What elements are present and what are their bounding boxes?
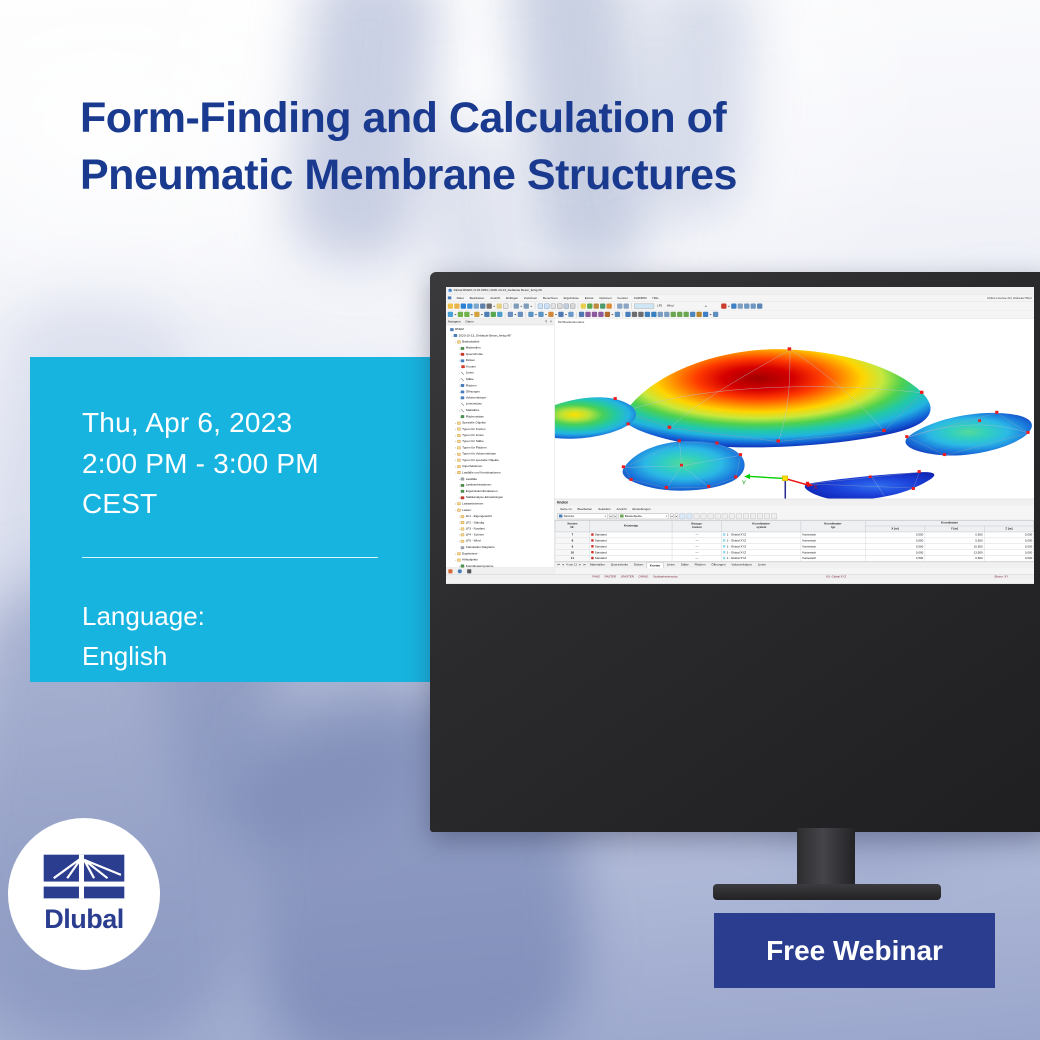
mirror-object-icon[interactable] [671, 312, 676, 317]
tree-item-icon [457, 559, 461, 562]
clear-cells-icon[interactable] [722, 513, 728, 519]
cell-flag-icon [591, 533, 593, 535]
cell-flag-icon [591, 557, 593, 559]
table-menu-bearbeiten[interactable]: Bearbeiten [575, 507, 596, 511]
tree-item-icon [457, 453, 461, 456]
rotate-object-icon[interactable] [677, 312, 682, 317]
tree-item-icon [461, 496, 465, 499]
table-cell[interactable]: Standard [590, 555, 673, 561]
tree-item-label: Ergebnisse [462, 552, 477, 556]
toolbar-separator [614, 303, 615, 309]
panel-split-icon[interactable] [544, 303, 549, 308]
tree-item-label: Öffnungen [466, 390, 480, 394]
cell-flag-icon [591, 545, 593, 547]
toolbar-separator [631, 303, 632, 309]
snap-mid-icon[interactable] [632, 312, 637, 317]
tree-item-icon [457, 340, 461, 343]
tree-item-icon [457, 465, 461, 468]
tree-item-icon [461, 372, 465, 375]
tree-item-icon [457, 502, 461, 505]
print-icon[interactable] [487, 303, 492, 308]
chevron-down-icon[interactable]: ▾ [666, 514, 669, 518]
object-tab--ffnungen[interactable]: Öffnungen [708, 562, 728, 568]
tree-item-label: Hilfsobjekte [462, 558, 478, 562]
structure-prev-button[interactable]: ◂ [609, 513, 613, 519]
tree-item-icon [457, 471, 461, 474]
navigator-footer [446, 567, 554, 573]
filter-icon[interactable] [738, 303, 743, 308]
table-cell[interactable]: 0,500 [925, 555, 984, 561]
tree-item-icon [461, 527, 465, 530]
menu-item-cad-bim[interactable]: CAD/BIM [631, 296, 650, 300]
table-menu-ansicht[interactable]: Ansicht [614, 507, 630, 511]
structure-icon [559, 515, 563, 518]
tree-item-label: Typen für Volumenkörper [462, 452, 496, 456]
solid-tool-icon[interactable] [497, 312, 502, 317]
table-panel: Knoten Gehe zu Bearbeiten Selektion Ansi… [555, 499, 1034, 574]
toolbar-separator [525, 311, 526, 317]
tree-item-label: Volumenkörper [466, 396, 487, 400]
menu-item-zuordnen[interactable]: Zuordnen [521, 296, 540, 300]
app-menu-icon[interactable] [448, 296, 452, 299]
tree-item-label: Materialien [466, 346, 481, 350]
cell-flag-icon [723, 533, 725, 535]
event-info-box: Thu, Apr 6, 2023 2:00 PM - 3:00 PM CEST … [30, 357, 430, 682]
new-object-icon[interactable] [448, 569, 452, 573]
tree-item-label: Lastfälle [466, 477, 477, 481]
outdent-icon[interactable] [757, 513, 763, 519]
tree-item-icon [461, 390, 465, 393]
delete-results-icon[interactable] [721, 303, 726, 308]
tree-item-label: Imperfektionen [462, 465, 482, 469]
tree-item-icon [457, 552, 461, 555]
load-nodal-dropdown-icon[interactable] [535, 312, 537, 317]
membrane-cushion-large [623, 347, 931, 447]
page-title-line-2: Pneumatic Membrane Structures [80, 147, 920, 204]
select-in-model-icon[interactable] [679, 513, 685, 519]
array-object-icon[interactable] [690, 312, 695, 317]
tree-item-icon [461, 484, 465, 487]
paste-icon[interactable] [503, 303, 508, 308]
axis-label-y: Y [742, 480, 746, 487]
status-fang[interactable]: FANG [590, 575, 602, 578]
menu-item-berechnen[interactable]: Berechnen [540, 296, 561, 300]
zoom-icon[interactable] [587, 303, 592, 308]
undo-icon[interactable] [514, 303, 519, 308]
delete-row-icon[interactable] [701, 513, 707, 519]
navigator-panel: Navigator Daten ⚲ ✕ RFEM⌄2020-10-13_Gebä… [446, 319, 555, 574]
dim-angle-icon[interactable] [605, 312, 610, 317]
render-icon[interactable] [581, 303, 586, 308]
navigator-tab[interactable]: Navigator [448, 320, 461, 324]
paste-cells-icon[interactable] [743, 513, 749, 519]
table-cell[interactable]: 11 [555, 555, 590, 561]
object-tab-querschnitte[interactable]: Querschnitte [608, 562, 631, 568]
object-tab-linien[interactable]: Linien [664, 562, 678, 568]
results-icon-2[interactable] [624, 303, 629, 308]
close-icon[interactable]: ✕ [550, 320, 553, 324]
loadcase-color-swatch [634, 303, 654, 308]
member-tool-icon[interactable] [484, 312, 489, 317]
loadcase-select[interactable] [677, 303, 704, 308]
tree-item-label: Querschnitte [466, 353, 483, 357]
cell-flag-icon [723, 557, 725, 559]
visibility-icon[interactable] [458, 569, 462, 573]
tree-item-label: RFEM [455, 328, 464, 332]
tree-item-icon [457, 446, 461, 449]
tree-item-icon [457, 434, 461, 437]
tree-item-icon [457, 509, 461, 512]
monitor-stand-base [713, 884, 941, 900]
object-tab-volumenk-rper[interactable]: Volumenkörper [728, 562, 754, 568]
status-bar: FANG RASTER LRASTER OFANG Sichtbarkeitsm… [446, 574, 1034, 579]
import-icon[interactable] [461, 303, 466, 308]
tree-item-label: LF5 - Wind [466, 540, 481, 544]
object-filter-select[interactable]: Basisobjekte ▾ [618, 513, 669, 519]
tree-item-icon [461, 384, 465, 387]
toolbar-primary[interactable]: LF5 Wind [446, 302, 1034, 311]
col-koordinatentyp[interactable]: Koordinaten- typ [801, 521, 865, 532]
cell-flag-icon [723, 545, 725, 547]
tree-item-label: Lastfälle und Kombinationen [462, 471, 500, 475]
col-bezugsknoten[interactable]: Bezugs- knoten [672, 521, 722, 532]
tree-item-icon [457, 459, 461, 462]
col-knotentyp[interactable]: Knotentyp [590, 521, 673, 532]
tree-item-icon [461, 353, 465, 356]
redo-icon[interactable] [524, 303, 529, 308]
dim-h3-icon[interactable] [598, 312, 603, 317]
load-surface-dropdown-icon[interactable] [555, 312, 557, 317]
window-cascade-icon[interactable] [564, 303, 569, 308]
app-titlebar: Dlubal RFEM | 6.02.0054 | 2020-10-13_Geb… [446, 287, 1034, 295]
toolbar-separator [578, 303, 579, 309]
cut-icon[interactable] [729, 513, 735, 519]
tree-item-label: Typen für Flächen [462, 446, 486, 450]
open-icon[interactable] [454, 303, 459, 308]
indent-icon[interactable] [750, 513, 756, 519]
tree-item-icon [461, 365, 465, 368]
viewport-column: Sichtbarkeitsmodus [555, 319, 1034, 574]
event-date: Thu, Apr 6, 2023 [82, 403, 378, 444]
dim-h1-icon[interactable] [585, 312, 590, 317]
table-toolbar[interactable]: Struktur ▾ ◂ ▸ Basisobjekte ▾ ◂ ▸ [555, 512, 1034, 520]
object-next-button[interactable]: ▸ [675, 513, 679, 519]
dim-dropdown-icon[interactable] [611, 312, 613, 317]
menu-item-ansicht[interactable]: Ansicht [487, 296, 503, 300]
structure-next-button[interactable]: ▸ [614, 513, 618, 519]
rotate-icon[interactable] [594, 303, 599, 308]
tree-item-icon [461, 546, 465, 549]
dim-vert-icon[interactable] [579, 312, 584, 317]
toolbar-separator [505, 311, 506, 317]
line-dropdown-icon[interactable] [471, 312, 473, 317]
imperfection-icon[interactable] [568, 312, 573, 317]
table-cell[interactable]: — [672, 555, 722, 561]
loadcase-number: LF5 [655, 304, 664, 308]
tree-item-label: Spezielle Objekte [462, 421, 486, 425]
language-label: Language: [82, 596, 378, 636]
object-tab-linien[interactable]: Linien [755, 562, 769, 568]
window-tile-icon[interactable] [557, 303, 562, 308]
app-logo-icon [448, 289, 452, 293]
cell-flag-icon [723, 539, 725, 541]
tree-item-label: Knoten [466, 365, 476, 369]
object-icon [620, 515, 624, 518]
tree-item-icon [461, 521, 465, 524]
insert-row-icon[interactable] [694, 513, 700, 519]
tree-item-label: Flächensätze [466, 415, 484, 419]
calculate-icon[interactable] [731, 303, 736, 308]
tree-item-label: Stabsätze [466, 409, 480, 413]
object-tab-fl-chen[interactable]: Flächen [692, 562, 709, 568]
status-sichtbarkeitsmodus[interactable]: Sichtbarkeitsmodus [651, 575, 680, 578]
membrane-structures-render[interactable]: Y X Z [555, 319, 1034, 499]
tree-item-label: Calculation Diagrams [466, 546, 495, 550]
object-filter-value: Basisobjekte [625, 514, 665, 518]
tree-item-label: LF2 - Ständig [466, 521, 484, 525]
prev-case-icon[interactable] [708, 303, 713, 308]
next-case-icon[interactable] [715, 303, 720, 308]
toolbar-separator [622, 311, 623, 317]
surface-tool-icon[interactable] [491, 312, 496, 317]
toolbar-separator [511, 303, 512, 309]
load-free-dropdown-icon[interactable] [565, 312, 567, 317]
table-cell[interactable]: 4,500 [865, 555, 924, 561]
free-webinar-button[interactable]: Free Webinar [714, 913, 995, 988]
dlubal-logo: Dlubal [8, 818, 160, 970]
menu-item-einfuegen[interactable]: Einfügen [503, 296, 521, 300]
chevron-down-icon[interactable]: ▾ [605, 514, 608, 518]
results-icon-1[interactable] [617, 303, 622, 308]
membrane-cushion-left [555, 397, 636, 439]
save-all-icon[interactable] [474, 303, 479, 308]
axis-triad-origin: Y X Z [555, 497, 578, 499]
panel-right-icon[interactable] [551, 303, 556, 308]
move-object-icon[interactable] [664, 312, 669, 317]
page-title-line-1: Form-Finding and Calculation of [80, 90, 920, 147]
tree-item-label: Dicken [466, 359, 475, 363]
col-koordinatensystem[interactable]: Koordinaten- system [722, 521, 801, 532]
snap-grid-icon[interactable] [638, 312, 643, 317]
load-surface-icon[interactable] [548, 312, 553, 317]
line-tool-icon[interactable] [458, 312, 463, 317]
delete-results-dropdown-icon[interactable] [728, 303, 730, 308]
diagram-icon[interactable] [751, 303, 756, 308]
menu-item-bearbeiten[interactable]: Bearbeiten [467, 296, 488, 300]
table-settings-icon[interactable] [764, 513, 770, 519]
page-title: Form-Finding and Calculation of Pneumati… [80, 90, 920, 204]
tree-item-icon [457, 440, 461, 443]
viewport-mode-label: Sichtbarkeitsmodus [558, 321, 585, 325]
tree-item-label: Ergebniskombinationen [466, 490, 498, 494]
chevron-right-icon[interactable]: › [458, 365, 461, 368]
cell-flag-icon [591, 539, 593, 541]
status-ofang[interactable]: OFANG [636, 575, 651, 578]
load-line-icon[interactable] [538, 312, 543, 317]
tree-item-label: LF1 - Eigengewicht [466, 515, 492, 519]
dim-h2-icon[interactable] [592, 312, 597, 317]
undo-dropdown-icon[interactable] [520, 303, 522, 308]
table-tab-strip[interactable]: ⏮ ◂ 4 von 11 ▸ ⏭ MaterialienQuerschnitte… [555, 562, 1034, 568]
menu-item-hilfe[interactable]: Hilfe [649, 296, 661, 300]
show-in-model-icon[interactable] [686, 513, 692, 519]
save-icon[interactable] [480, 303, 485, 308]
navigator-tree[interactable]: RFEM⌄2020-10-13_Gebäude Beton_fertig.rf6… [446, 325, 554, 567]
print-dropdown-icon[interactable] [493, 303, 495, 308]
tree-item-icon [461, 397, 465, 400]
object-prev-button[interactable]: ◂ [670, 513, 674, 519]
trim-dropdown-icon[interactable] [709, 312, 711, 317]
object-tabs[interactable]: MaterialienQuerschnitteDickenKnotenLinie… [587, 562, 769, 568]
bridge-icon [42, 853, 126, 900]
fit-icon[interactable] [607, 303, 612, 308]
language-value: English [82, 636, 378, 676]
export-table-icon[interactable] [771, 513, 777, 519]
tree-item-icon [461, 403, 465, 406]
toolbar-separator [535, 303, 536, 309]
tree-item-icon [457, 421, 461, 424]
tree-item-icon [457, 428, 461, 431]
tree-item-icon [461, 478, 465, 481]
cell-flag-icon [591, 551, 593, 553]
monitor-stand-neck [797, 828, 855, 890]
arc-tool-icon[interactable] [474, 312, 479, 317]
tree-item-label: Lasten [462, 508, 471, 512]
panel-left-icon[interactable] [538, 303, 543, 308]
copy-cells-icon[interactable] [736, 513, 742, 519]
tree-item-label: Typen für Knoten [462, 427, 485, 431]
table-row[interactable]: 11Standard—1 - Global XYZKartesisch4,500… [555, 555, 1034, 561]
tree-item-icon [461, 515, 465, 518]
model-viewport[interactable]: Sichtbarkeitsmodus [555, 319, 1034, 499]
redo-dropdown-icon[interactable] [530, 303, 532, 308]
table-menu-selektion[interactable]: Selektion [595, 507, 613, 511]
duplicate-row-icon[interactable] [708, 513, 714, 519]
display-icon[interactable] [467, 569, 471, 573]
tree-item-label: Lastkombinationen [466, 483, 492, 487]
tree-item-label: Statikanalyse-Einstellungen [466, 496, 503, 500]
axis-label-y-small: Y [555, 497, 558, 499]
tree-item-label: Typen für Linien [462, 434, 484, 438]
menu-item-fenster[interactable]: Fenster [615, 296, 631, 300]
table-cell[interactable]: Kartesisch [801, 555, 865, 561]
nodes-table[interactable]: Knoten Nr. Knotentyp Bezugs- knoten Koor… [555, 520, 1034, 561]
copy-object-icon[interactable] [658, 312, 663, 317]
mesh-icon[interactable] [615, 312, 620, 317]
trim-object-icon[interactable] [703, 312, 708, 317]
fill-column-icon[interactable] [715, 513, 721, 519]
copy-icon[interactable] [497, 303, 502, 308]
toolbar-secondary[interactable] [446, 311, 1034, 319]
object-tab-dicken[interactable]: Dicken [631, 562, 646, 568]
status-coordinate-system: KS: Global XYZ [824, 575, 848, 578]
tree-item-icon [450, 328, 454, 331]
object-tab-st-be[interactable]: Stäbe [678, 562, 692, 568]
cell-flag-icon [723, 551, 725, 553]
hinge-tool-icon[interactable] [518, 312, 523, 317]
pin-icon[interactable]: ⚲ [545, 320, 547, 324]
tree-item-icon [461, 359, 465, 362]
object-tab-materialien[interactable]: Materialien [587, 562, 608, 568]
deform-icon[interactable] [744, 303, 749, 308]
table-menu-einstellungen[interactable]: Einstellungen [630, 507, 654, 511]
tree-item-label: LF3 - Nutzlast [466, 527, 485, 531]
event-time: 2:00 PM - 3:00 PM CEST [82, 444, 378, 525]
status-plane: Ebene: XY [992, 575, 1010, 578]
table-cell[interactable]: 1 - Global XYZ [722, 555, 801, 561]
support-dropdown-icon[interactable] [514, 312, 516, 317]
menu-item-optionen[interactable]: Optionen [596, 296, 614, 300]
pager-label: 4 von 11 [565, 563, 578, 567]
table-body: 7Standard—1 - Global XYZKartesisch0,5000… [555, 532, 1034, 561]
split-object-icon[interactable] [696, 312, 701, 317]
snap-intersect-icon[interactable] [651, 312, 656, 317]
tree-item-label: 2020-10-13_Gebäude Beton_fertig.rf6* [459, 334, 512, 338]
load-nodal-icon[interactable] [528, 312, 533, 317]
tree-item-label: Typen für spezielle Objekte [462, 459, 499, 463]
menu-item-extras[interactable]: Extras [582, 296, 597, 300]
export-icon[interactable] [467, 303, 472, 308]
snap-perp-icon[interactable] [625, 312, 630, 317]
table-menu-gehe-zu[interactable]: Gehe zu [557, 507, 574, 511]
load-line-dropdown-icon[interactable] [545, 312, 547, 317]
tree-item-label: LF4 - Schnee [466, 533, 484, 537]
snap-end-icon[interactable] [645, 312, 650, 317]
node-dropdown-icon[interactable] [454, 312, 456, 317]
tree-item-icon [461, 415, 465, 418]
tree-item-icon [461, 490, 465, 493]
new-icon[interactable] [448, 303, 453, 308]
work-area: Navigator Daten ⚲ ✕ RFEM⌄2020-10-13_Gebä… [446, 319, 1034, 574]
tree-item-label: Stäbe [466, 378, 474, 382]
tree-item-label: Lastassistenten [462, 502, 483, 506]
tree-item-icon [461, 534, 465, 537]
extra-tool-icon[interactable] [713, 312, 718, 317]
navigator-header: Navigator Daten ⚲ ✕ [446, 319, 554, 325]
tree-item-icon [461, 378, 465, 381]
tree-item-label: Linien [466, 371, 474, 375]
app-title-text: Dlubal RFEM | 6.02.0054 | 2020-10-13_Geb… [454, 289, 542, 293]
pan-icon[interactable] [600, 303, 605, 308]
brand-name: Dlubal [44, 904, 124, 935]
tree-item-icon [461, 540, 465, 543]
menu-bar[interactable]: Datei Bearbeiten Ansicht Einfügen Zuordn… [446, 295, 1034, 302]
status-raster[interactable]: RASTER [602, 575, 618, 578]
window-arrange-icon[interactable] [570, 303, 575, 308]
load-free-icon[interactable] [558, 312, 563, 317]
status-lraster[interactable]: LRASTER [618, 575, 636, 578]
support-tool-icon[interactable] [508, 312, 513, 317]
line-dim-icon[interactable] [464, 312, 469, 317]
object-tab-knoten[interactable]: Knoten [646, 562, 664, 568]
table-cell[interactable]: 0,000 [984, 555, 1034, 561]
structure-filter-select[interactable]: Struktur ▾ [557, 513, 608, 519]
menu-item-datei[interactable]: Datei [454, 296, 467, 300]
report-icon[interactable] [757, 303, 762, 308]
tree-item-icon [461, 409, 465, 412]
tree-item-label: Basisobjekte [462, 340, 479, 344]
col-knoten-nr[interactable]: Knoten Nr. [555, 521, 590, 532]
scale-object-icon[interactable] [684, 312, 689, 317]
application-screen: Dlubal RFEM | 6.02.0054 | 2020-10-13_Geb… [446, 287, 1034, 584]
data-tab[interactable]: Daten [466, 320, 474, 324]
arc-dropdown-icon[interactable] [481, 312, 483, 317]
menu-item-ergebnisse[interactable]: Ergebnisse [561, 296, 582, 300]
loadcase-dropdown-icon[interactable] [705, 303, 707, 308]
axis-label-x: X [814, 485, 818, 491]
membrane-cushion-triangular [805, 470, 935, 499]
node-tool-icon[interactable] [448, 312, 453, 317]
